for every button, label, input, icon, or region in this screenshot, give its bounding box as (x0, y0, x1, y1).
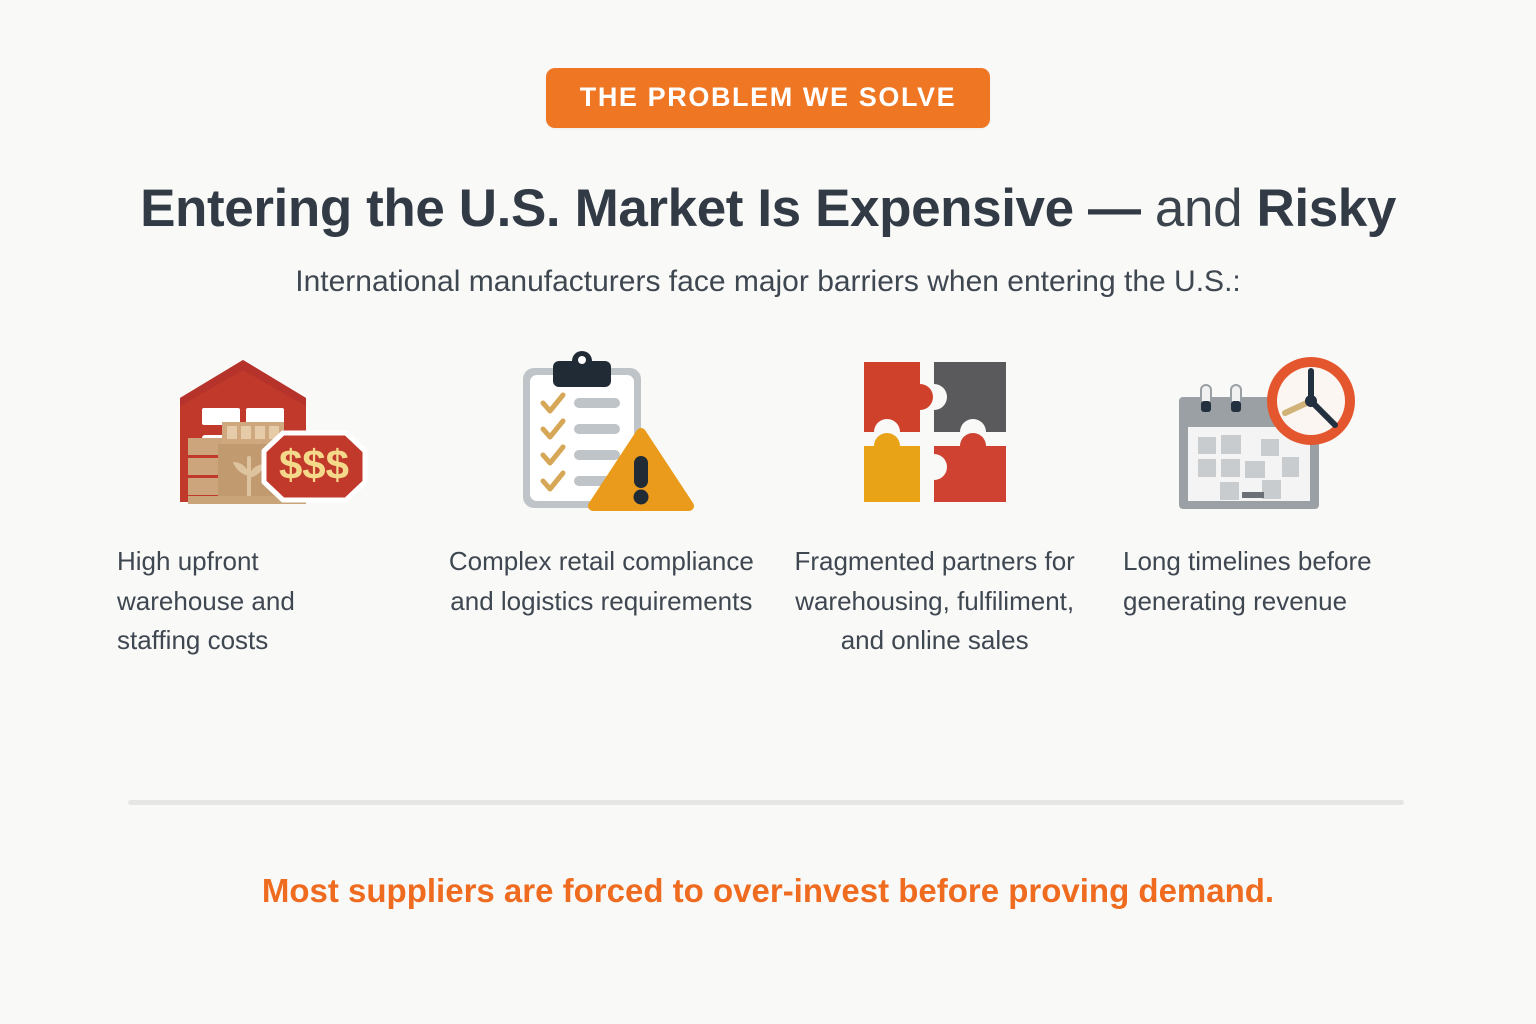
page-title: Entering the U.S. Market Is Expensive — … (140, 180, 1396, 237)
puzzle-svg (850, 350, 1020, 515)
card-retail-compliance: Complex retail compliance and logistics … (436, 345, 766, 621)
eyebrow-badge: THE PROBLEM WE SOLVE (546, 68, 991, 128)
headline-bold-end: Risky (1257, 179, 1396, 238)
clipboard-warning-svg (501, 348, 701, 518)
barrier-cards: $$$ High upfront warehouse and staffing … (103, 345, 1433, 661)
compliance-clipboard-warning-icon (491, 345, 711, 520)
calendar-clock-icon (1158, 345, 1378, 520)
headline-bold-start: Entering the U.S. Market Is Expensive — (140, 179, 1141, 238)
eyebrow-badge-row: THE PROBLEM WE SOLVE (0, 68, 1536, 128)
page-subtitle: International manufacturers face major b… (295, 265, 1240, 299)
section-divider (128, 800, 1404, 805)
fragmented-puzzle-icon (825, 345, 1045, 520)
card-label: High upfront warehouse and staffing cost… (117, 542, 357, 661)
warehouse-cost-icon-svg: $$$ (166, 350, 371, 515)
card-high-upfront-costs: $$$ High upfront warehouse and staffing … (103, 345, 433, 661)
card-fragmented-partners: Fragmented partners for warehousing, ful… (770, 345, 1100, 661)
footer-statement: Most suppliers are forced to over-invest… (0, 872, 1536, 910)
dollar-badge-text: $$$ (278, 441, 348, 488)
calendar-clock-svg (1163, 349, 1373, 517)
card-label: Complex retail compliance and logistics … (446, 542, 756, 621)
headline-light-and: and (1141, 179, 1257, 238)
problem-slide: THE PROBLEM WE SOLVE Entering the U.S. M… (0, 0, 1536, 1024)
card-long-timelines: Long timelines before generating revenue (1103, 345, 1433, 621)
card-label: Long timelines before generating revenue (1123, 542, 1423, 621)
card-label: Fragmented partners for warehousing, ful… (780, 542, 1090, 661)
warehouse-cost-icon: $$$ (158, 345, 378, 520)
